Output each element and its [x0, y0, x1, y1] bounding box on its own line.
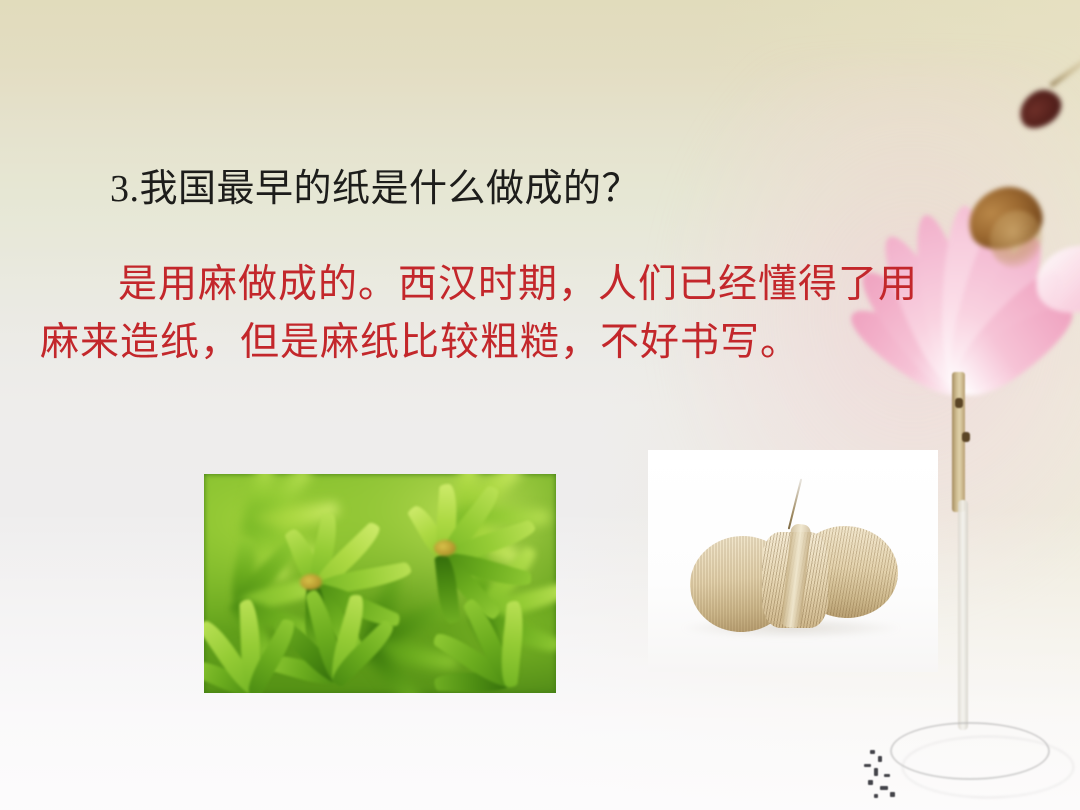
lotus-stem-node — [955, 398, 963, 408]
lotus-stem-lower — [958, 500, 968, 730]
lotus-stem — [952, 372, 965, 512]
slide-canvas: 3.我国最早的纸是什么做成的？ 是用麻做成的。西汉时期，人们已经懂得了用麻来造纸… — [0, 0, 1080, 810]
question-heading: 3.我国最早的纸是什么做成的？ — [110, 166, 640, 214]
hemp-flower-node — [300, 574, 322, 590]
ripple-ring-icon — [902, 736, 1074, 798]
hemp-twine-photo — [648, 450, 938, 672]
hemp-plant-photo — [204, 474, 556, 693]
hemp-photo-canvas — [204, 474, 556, 693]
twine-bundle — [690, 522, 896, 632]
hemp-flower-node — [434, 540, 456, 556]
debris-specks — [856, 748, 914, 804]
answer-text: 是用麻做成的。西汉时期，人们已经懂得了用麻来造纸，但是麻纸比较粗糙，不好书写。 — [40, 256, 920, 371]
lotus-stem-node — [962, 432, 970, 442]
lotus-bud — [1012, 83, 1067, 136]
